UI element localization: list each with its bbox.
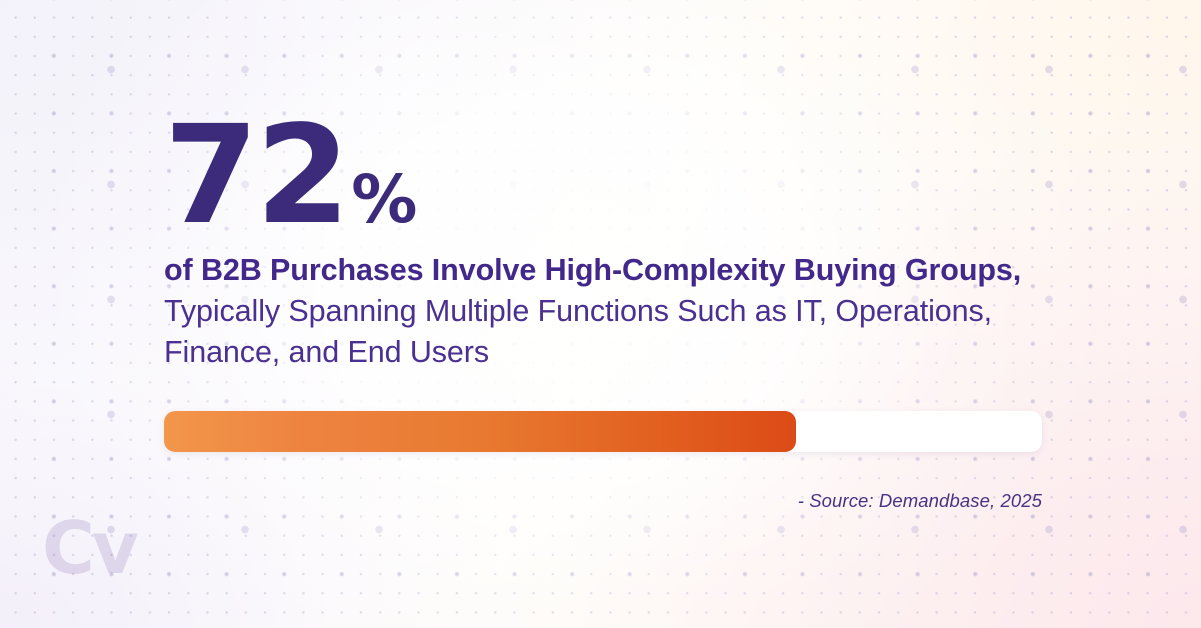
headline-regular-segment: Typically Spanning Multiple Functions Su… <box>164 294 992 369</box>
headline-text: of B2B Purchases Involve High-Complexity… <box>164 250 1042 373</box>
headline-bold-segment: of B2B Purchases Involve High-Complexity… <box>164 253 1021 287</box>
headline-statistic: 72 % <box>164 108 416 244</box>
progress-bar-fill <box>164 411 796 452</box>
content-container: 72 % of B2B Purchases Involve High-Compl… <box>164 0 1044 628</box>
brand-watermark-logo: Cv <box>42 512 136 584</box>
source-attribution: - Source: Demandbase, 2025 <box>164 490 1042 512</box>
infographic-stat-card: 72 % of B2B Purchases Involve High-Compl… <box>0 0 1201 628</box>
progress-bar-track <box>164 411 1042 452</box>
statistic-value: 72 <box>164 108 347 244</box>
statistic-unit: % <box>351 167 416 233</box>
